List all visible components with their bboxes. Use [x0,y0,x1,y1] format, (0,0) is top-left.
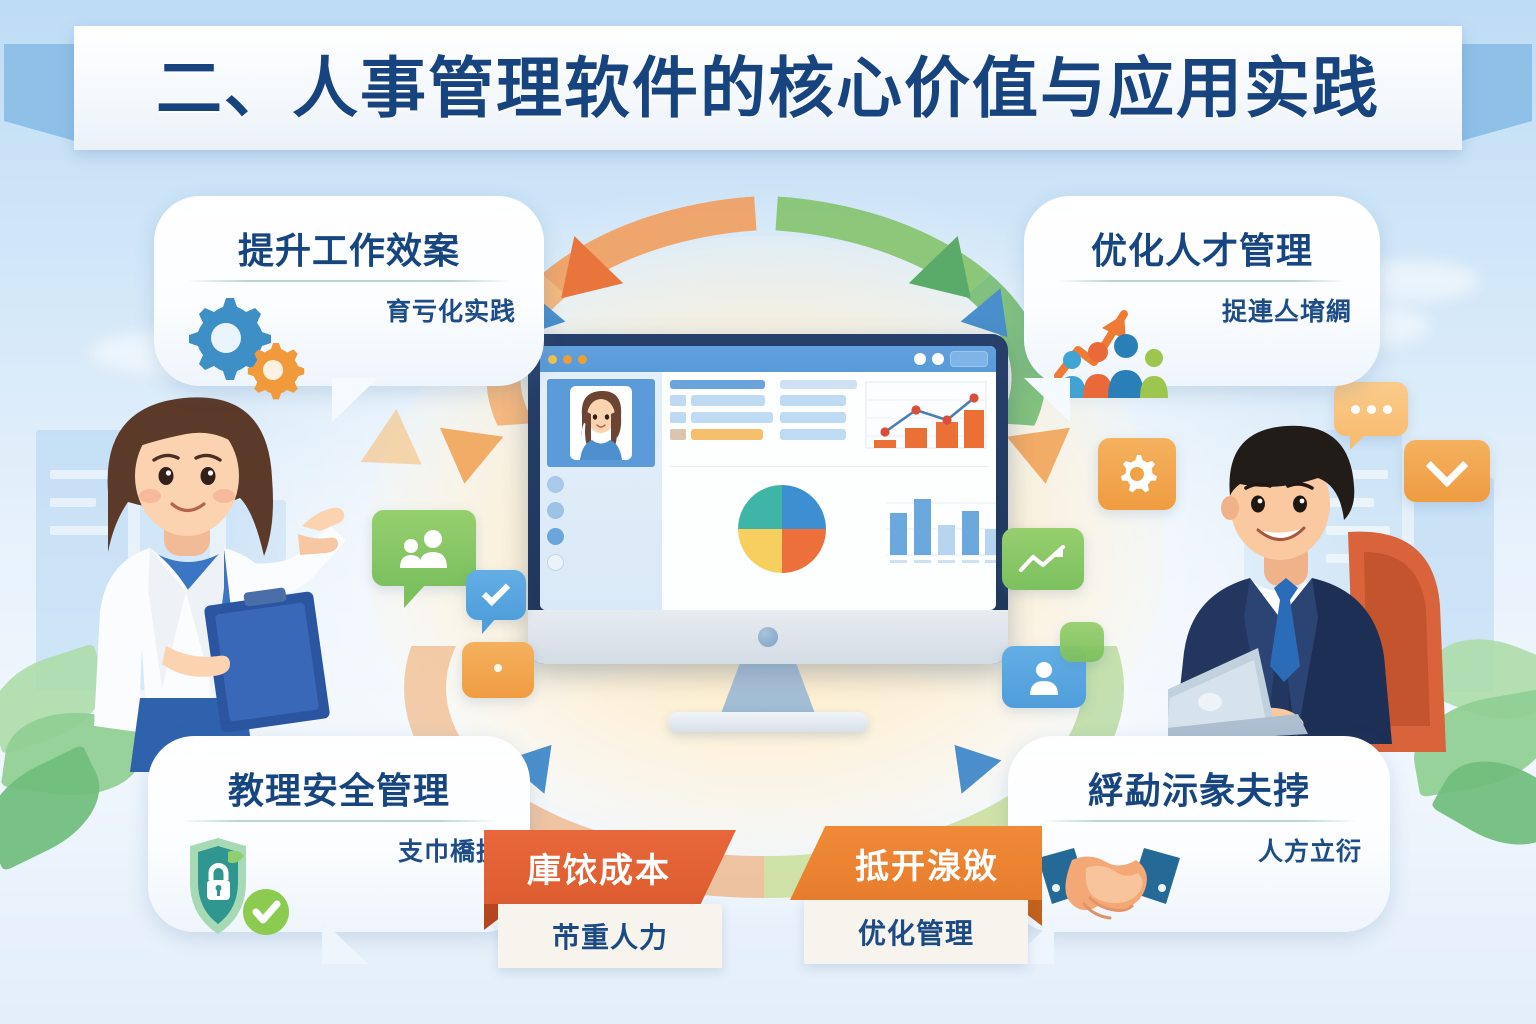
bubble-top-left[interactable]: 提升工作效案 育亏化实践 [154,196,544,386]
field-header-bar [780,380,857,389]
bubble-title: 綒勐沶彖夫挬 [1008,762,1390,814]
list-avatar-icon [547,476,564,493]
combo-bar-line-chart [864,380,988,461]
banner-title: 庫饻成本 [484,830,736,904]
ellipsis-tile-tail [1350,434,1366,450]
green-accent-tile [1060,622,1104,662]
bar-chart-svg [886,481,996,573]
check-tile-tail [482,618,496,634]
field-header-bar [670,380,765,389]
bubble-divider [188,280,510,282]
combo-chart-svg [864,380,988,456]
banner-efficiency[interactable]: 抵开湶敓 优化管理 [790,826,1042,964]
dashboard-sidebar [540,372,662,610]
chevron-down-icon [1426,445,1468,487]
bubble-title: 教理安全管理 [148,762,530,814]
employee-photo-card [547,379,655,467]
gears-icon [180,292,310,402]
charts-row [670,481,988,604]
dashboard-screen [540,346,996,610]
bubble-divider [1058,280,1346,282]
camera-icon [758,627,778,647]
laptop-tile[interactable] [462,642,534,698]
gear-icon [1114,451,1160,497]
people-tile-tail [404,584,426,608]
list-avatar-icon [547,528,564,545]
minimize-dot[interactable] [548,355,557,364]
banner-subtitle: 优化管理 [804,900,1028,964]
chart-legend-left [670,481,726,604]
bubble-divider [182,820,496,822]
list-avatar-icon [547,502,564,519]
trend-chart-tile[interactable] [1002,528,1084,590]
check-icon [482,578,510,606]
employee-avatar-icon [570,386,632,460]
field-value-highlight [691,429,763,440]
maximize-dot[interactable] [563,355,572,364]
arrow-orange-mid-right [1007,428,1078,488]
monitor-base [668,712,868,732]
window-button[interactable] [950,351,988,367]
pie-chart-svg [734,481,830,577]
shield-lock-icon [174,832,304,942]
field-row [670,429,773,440]
field-row [780,429,857,440]
banner-title: 抵开湶敓 [790,826,1042,900]
arrow-orange-mid-left [433,428,504,488]
field-value [780,429,846,440]
bubble-subtitle: 捉連亼堉綢 [1222,292,1352,328]
field-group [670,380,988,461]
window-action-dot[interactable] [932,353,944,365]
field-chip-highlight [670,429,686,440]
avatar [570,386,632,460]
bubble-bottom-left[interactable]: 教理安全管理 支巾橋执 [148,736,530,932]
bubble-subtitle: 育亏化实践 [386,292,516,328]
metrics-bar-chart [886,481,988,604]
field-value [780,395,846,406]
list-item[interactable] [547,502,655,519]
field-column-left [670,380,773,461]
ribbon-body: 二、人事管理软件的核心价值与应用实践 [74,26,1462,150]
banner-subtitle: 芇重人力 [498,904,722,968]
bubble-tail-top-left [332,378,378,422]
field-column-right [780,380,857,461]
field-row [670,395,773,406]
field-value [691,412,773,423]
list-avatar-icon [547,554,564,571]
chevron-tile[interactable] [1404,440,1490,502]
laptop-icon [480,657,516,683]
bubble-title: 提升工作效案 [154,222,544,274]
chart-legend-mid [838,481,878,604]
bubble-tail-bottom-left [322,920,368,964]
list-item[interactable] [547,528,655,545]
bubble-tail-top-right [1024,378,1070,422]
bubble-bottom-right[interactable]: 綒勐沶彖夫挬 人方立衍 [1008,736,1390,932]
field-value [691,395,765,406]
monitor-frame [528,334,1008,664]
ellipsis-icon [1351,405,1392,414]
distribution-pie-chart [734,481,830,604]
bubble-top-right[interactable]: 优化人才管理 捉連亼堉綢 [1024,196,1380,386]
gears-icon-svg [180,292,310,402]
list-item[interactable] [547,554,655,571]
people-group-icon [395,528,453,568]
window-action-dot[interactable] [914,353,926,365]
field-chip [670,412,686,423]
dashboard-body [540,372,996,610]
banner-cost[interactable]: 庫饻成本 芇重人力 [484,830,736,968]
ellipsis-tile[interactable] [1334,382,1408,436]
field-row [780,412,857,423]
infographic-poster: 二、人事管理软件的核心价值与应用实践 [0,0,1536,1024]
close-dot[interactable] [578,355,587,364]
monitor-bezel [528,610,1008,664]
monitor [528,334,1008,664]
user-card-icon [1027,659,1061,695]
dashboard-main [662,372,996,610]
shield-lock-icon-svg [174,832,308,940]
person-hr-woman [46,372,346,772]
handshake-icon [1034,832,1184,942]
trend-chart-icon [1017,543,1069,575]
handshake-icon-svg [1034,832,1184,932]
bubble-subtitle: 人方立衍 [1258,832,1362,868]
window-titlebar [540,346,996,372]
gear-tile[interactable] [1098,438,1176,510]
field-row [670,412,773,423]
field-value [780,412,846,423]
check-tile[interactable] [466,570,526,620]
title-ribbon: 二、人事管理软件的核心价值与应用实践 [0,26,1536,166]
field-row [780,395,857,406]
page-title: 二、人事管理软件的核心价值与应用实践 [156,55,1380,121]
list-item[interactable] [547,476,655,493]
field-chip [670,395,686,406]
bubble-title: 优化人才管理 [1024,222,1380,274]
bubble-divider [1042,820,1356,822]
divider [670,466,988,467]
people-group-tile[interactable] [372,510,476,586]
